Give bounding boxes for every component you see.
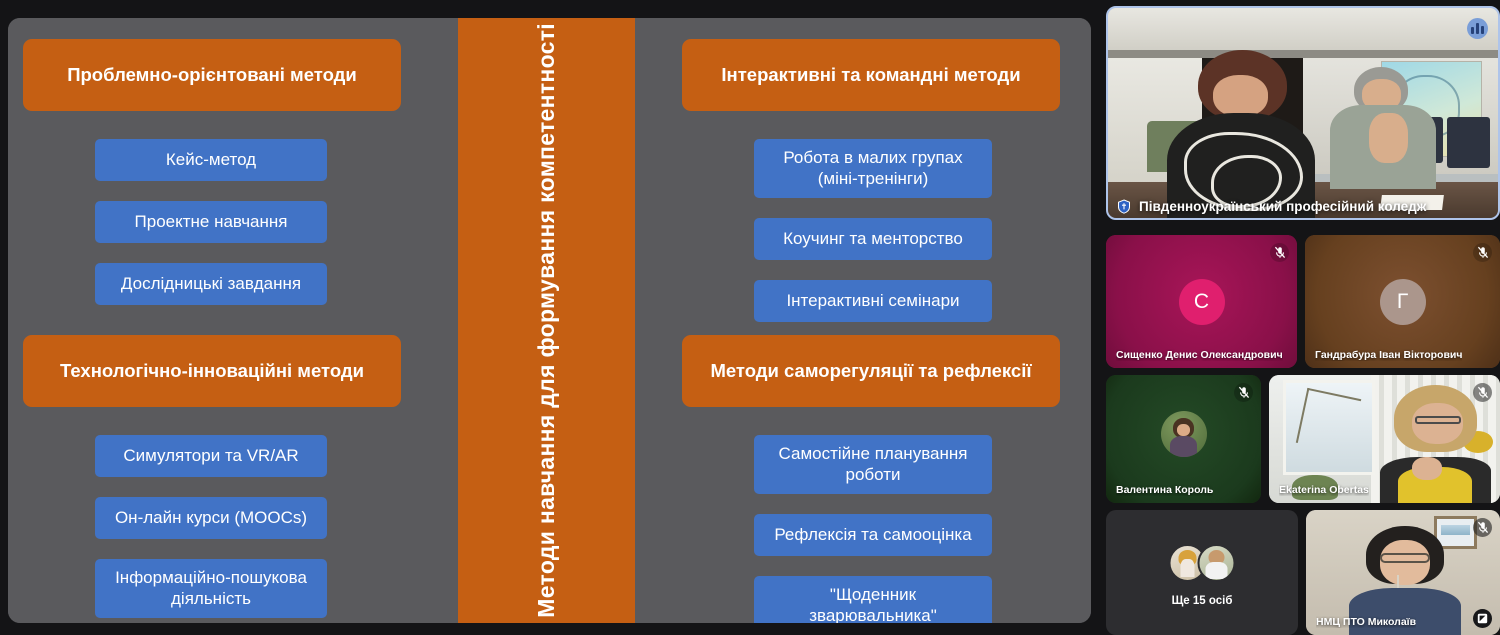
- list-item[interactable]: Дослідницькі завдання: [95, 263, 327, 305]
- video-tile-nmc-pto[interactable]: НМЦ ПТО Миколаїв: [1306, 510, 1500, 635]
- list-item[interactable]: "Щоденник зварювальника": [754, 576, 992, 623]
- participant-filmstrip: Південноукраїнський професійний коледж С…: [1100, 0, 1500, 635]
- slide-right-column: Інтерактивні та командні методи Робота в…: [635, 18, 1091, 623]
- list-item[interactable]: Інтерактивні семінари: [754, 280, 992, 322]
- video-tile-syshchenko[interactable]: С Сищенко Денис Олександрович: [1106, 235, 1297, 368]
- tile-name: Гандрабура Іван Вікторович: [1315, 349, 1462, 361]
- audio-level-icon: [1467, 18, 1488, 39]
- list-item[interactable]: Рефлексія та самооцінка: [754, 514, 992, 556]
- slide-group-self-regulation-reflection: Методи саморегуляції та рефлексії Самост…: [682, 335, 1060, 623]
- group-header: Методи саморегуляції та рефлексії: [682, 335, 1060, 407]
- slide-group-interactive-team: Інтерактивні та командні методи Робота в…: [682, 39, 1060, 322]
- group-header: Технологічно-інноваційні методи: [23, 335, 401, 407]
- avatar-group: [1169, 544, 1236, 582]
- mic-muted-icon[interactable]: [1473, 383, 1492, 402]
- mic-muted-icon[interactable]: [1473, 243, 1492, 262]
- video-feed: [1108, 8, 1498, 218]
- more-participants-tile[interactable]: Ще 15 осіб: [1106, 510, 1298, 635]
- group-items: Робота в малих групах (міні-тренінги) Ко…: [754, 139, 992, 322]
- conference-screen: Проблемно-орієнтовані методи Кейс-метод …: [0, 0, 1500, 635]
- group-items: Симулятори та VR/AR Он-лайн курси (MOOCs…: [95, 435, 327, 618]
- more-participants-label: Ще 15 осіб: [1106, 595, 1298, 607]
- org-badge-icon: [1116, 198, 1132, 215]
- tile-name: НМЦ ПТО Миколаїв: [1316, 616, 1416, 628]
- avatar: С: [1179, 279, 1225, 325]
- list-item[interactable]: Інформаційно-пошукова діяльність: [95, 559, 327, 618]
- group-items: Кейс-метод Проектне навчання Дослідницьк…: [95, 139, 327, 305]
- list-item[interactable]: Кейс-метод: [95, 139, 327, 181]
- tile-name: Ekaterina Obertas: [1279, 484, 1369, 496]
- list-item[interactable]: Самостійне планування роботи: [754, 435, 992, 494]
- tile-name: Валентина Король: [1116, 484, 1213, 496]
- slide-group-technological-innovative: Технологічно-інноваційні методи Симулято…: [23, 335, 401, 618]
- avatar: [1198, 544, 1236, 582]
- tile-name: Південноукраїнський професійний коледж: [1139, 199, 1426, 214]
- group-header: Проблемно-орієнтовані методи: [23, 39, 401, 111]
- avatar: [1161, 411, 1207, 457]
- mic-muted-icon[interactable]: [1270, 243, 1289, 262]
- mic-muted-icon[interactable]: [1473, 518, 1492, 537]
- list-item[interactable]: Он-лайн курси (MOOCs): [95, 497, 327, 539]
- video-tile-handrabura[interactable]: Г Гандрабура Іван Вікторович: [1305, 235, 1500, 368]
- shared-slide[interactable]: Проблемно-орієнтовані методи Кейс-метод …: [8, 18, 1091, 623]
- video-tile-obertas[interactable]: Ekaterina Obertas: [1269, 375, 1500, 503]
- list-item[interactable]: Робота в малих групах (міні-тренінги): [754, 139, 992, 198]
- slide-group-problem-oriented: Проблемно-орієнтовані методи Кейс-метод …: [23, 39, 401, 305]
- group-items: Самостійне планування роботи Рефлексія т…: [754, 435, 992, 623]
- list-item[interactable]: Проектне навчання: [95, 201, 327, 243]
- avatar: Г: [1380, 279, 1426, 325]
- tile-label: Південноукраїнський професійний коледж: [1108, 198, 1426, 215]
- video-tile-main-speaker[interactable]: Південноукраїнський професійний коледж: [1106, 6, 1500, 220]
- page-title: Методи навчання для формування компетент…: [535, 23, 558, 618]
- list-item[interactable]: Симулятори та VR/AR: [95, 435, 327, 477]
- slide-left-column: Проблемно-орієнтовані методи Кейс-метод …: [8, 18, 458, 623]
- video-tile-korol[interactable]: Валентина Король: [1106, 375, 1261, 503]
- tile-name: Сищенко Денис Олександрович: [1116, 349, 1283, 361]
- group-header: Інтерактивні та командні методи: [682, 39, 1060, 111]
- list-item[interactable]: Коучинг та менторство: [754, 218, 992, 260]
- slide-center-title-band: Методи навчання для формування компетент…: [458, 18, 635, 623]
- screen-share-icon[interactable]: [1473, 609, 1492, 628]
- mic-muted-icon[interactable]: [1234, 383, 1253, 402]
